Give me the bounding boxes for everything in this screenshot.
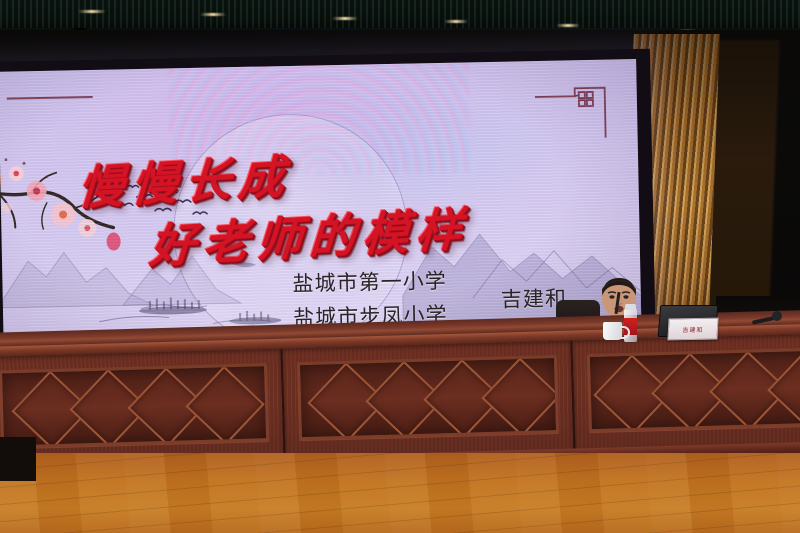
podium-panel-inner: [0, 363, 269, 448]
name-plate: 吉建和: [667, 318, 718, 341]
photo-scene: 慢慢长成 好老师的模样 盐城市第一小学 盐城市步凤小学 吉建和: [0, 0, 800, 533]
name-plate-text: 吉建和: [682, 324, 704, 333]
valance-light: [444, 20, 468, 23]
panel-diamond: [767, 349, 800, 428]
valance-light: [332, 17, 358, 20]
podium-panel-inner: [587, 348, 800, 432]
floor-left-shadow: [0, 437, 36, 481]
slide-org-line-1: 盐城市第一小学: [292, 265, 447, 298]
panel-diamond: [481, 357, 559, 436]
panel-diamond: [186, 366, 265, 445]
water-bottle-cap: [625, 304, 636, 310]
slide-text-layer: 慢慢长成 好老师的模样 盐城市第一小学 盐城市步凤小学 吉建和: [0, 59, 642, 354]
stage-floor: [0, 453, 800, 533]
podium-panel-inner: [297, 355, 559, 440]
desk-microphone-head: [772, 311, 782, 321]
podium-panel: [0, 349, 286, 469]
podium-panel: [572, 334, 800, 453]
led-screen: 慢慢长成 好老师的模样 盐城市第一小学 盐城市步凤小学 吉建和: [0, 59, 642, 354]
valance-light: [556, 24, 580, 27]
podium-panel: [283, 341, 576, 461]
valance-light: [200, 13, 226, 16]
valance-light: [78, 10, 106, 13]
